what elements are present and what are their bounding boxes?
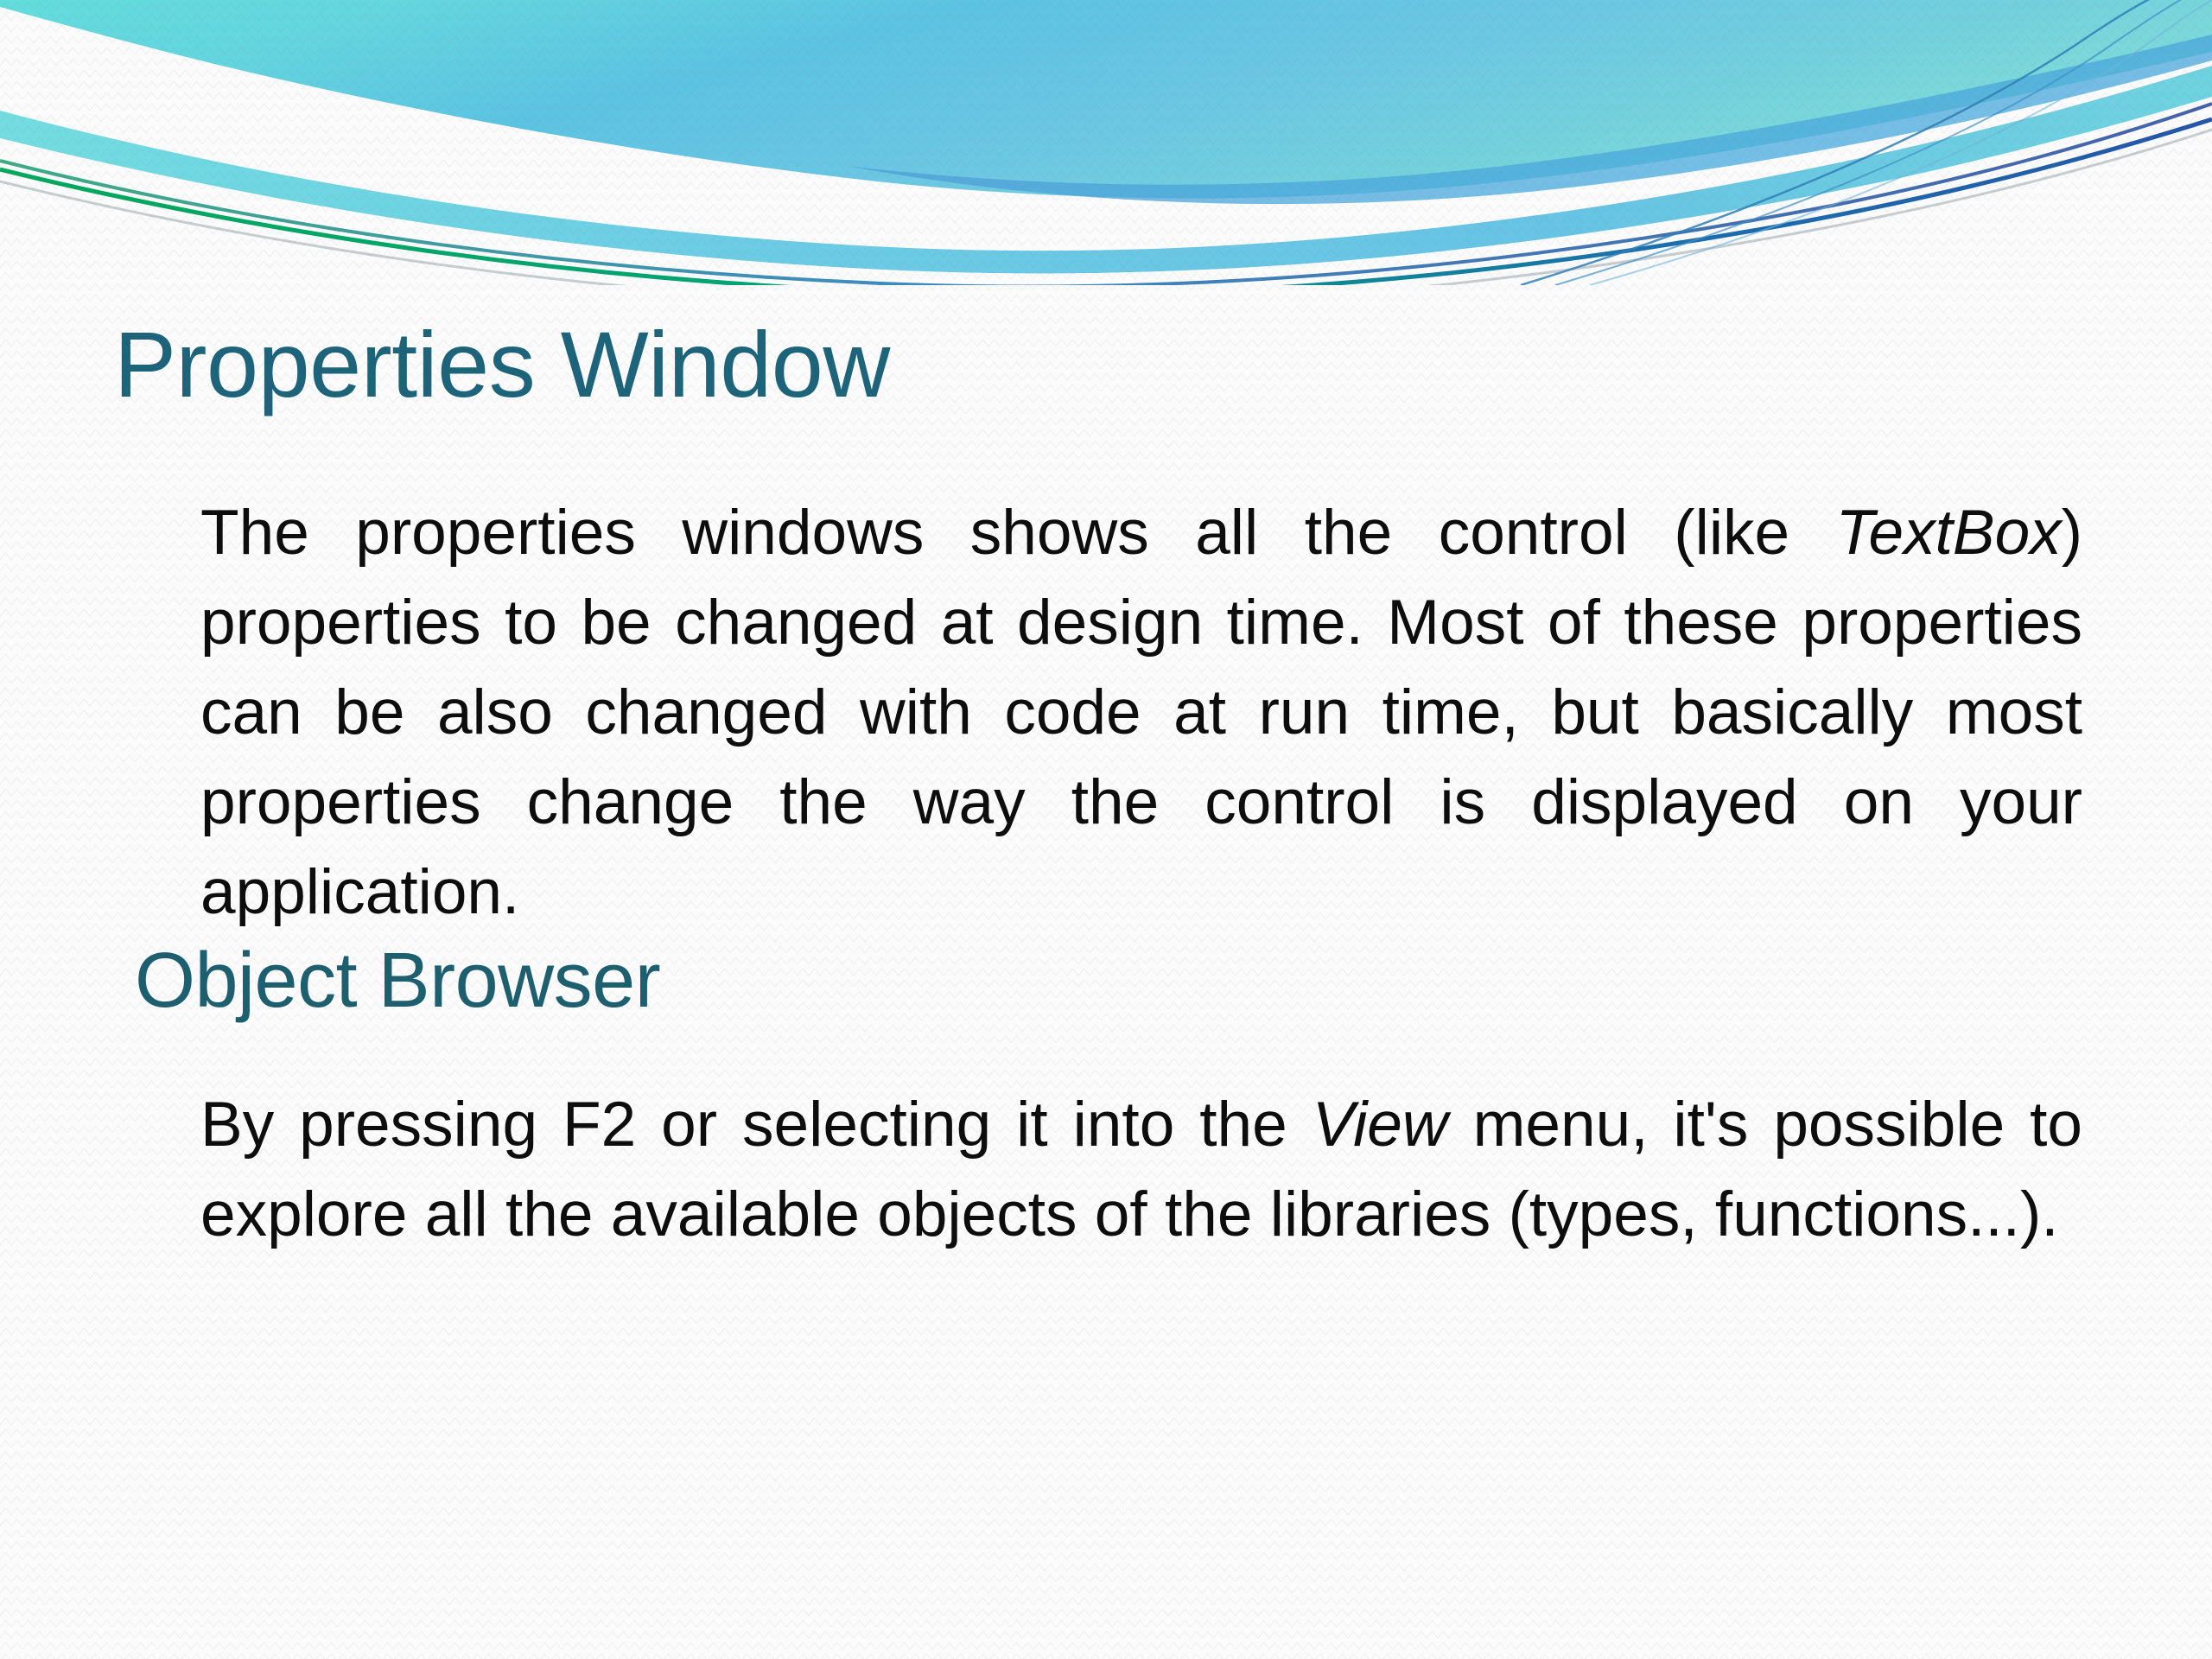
slide-title: Properties Window <box>114 318 890 411</box>
browser-paragraph-part-1: By pressing F2 or selecting it into the <box>200 1090 1313 1160</box>
slide-content: Properties Window The properties windows… <box>0 0 2212 1659</box>
presentation-slide: Properties Window The properties windows… <box>0 0 2212 1659</box>
object-browser-paragraph: By pressing F2 or selecting it into the … <box>200 1080 2082 1260</box>
slide-subtitle: Object Browser <box>135 942 660 1020</box>
textbox-emphasis: TextBox <box>1836 498 2062 568</box>
view-menu-emphasis: View <box>1313 1090 1448 1160</box>
properties-paragraph-part-1: The properties windows shows all the con… <box>200 498 1836 568</box>
properties-window-paragraph: The properties windows shows all the con… <box>200 488 2082 938</box>
